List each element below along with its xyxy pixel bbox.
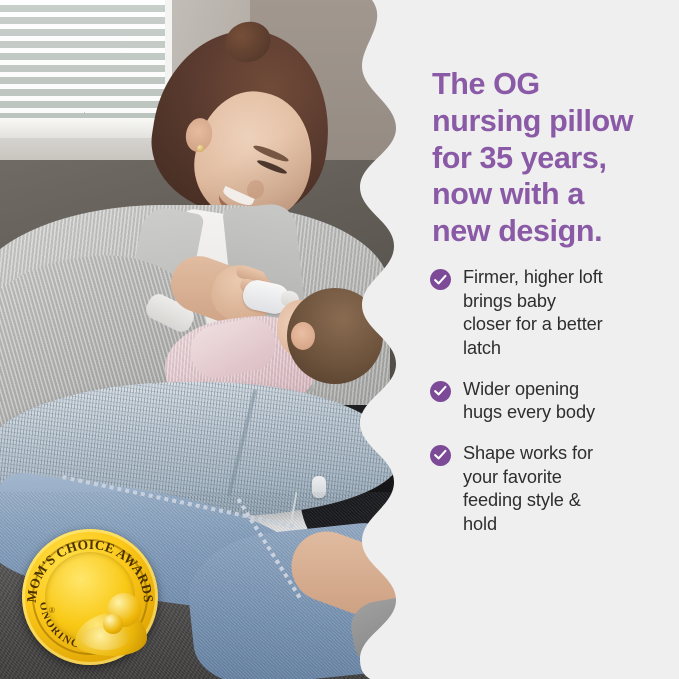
feature-bullet-text: Firmer, higher loft brings baby closer f… [463,266,603,361]
bullet-line: Shape works for [463,442,593,466]
copy-panel: The OG nursing pillow for 35 years, now … [400,0,679,679]
bullet-line: feeding style & [463,489,593,513]
feature-bullet-2: Wider opening hugs every body [430,378,670,425]
badge-child-figure-head [103,614,123,634]
bullet-line: closer for a better [463,313,603,337]
product-ad-card: MOM'S CHOICE AWARDS HONORING EXCELLENCE … [0,0,679,679]
bullet-line: hugs every body [463,401,595,425]
headline: The OG nursing pillow for 35 years, now … [432,66,677,249]
bullet-line: Firmer, higher loft [463,266,603,290]
badge-inner-disc [45,552,135,642]
check-circle-icon [430,445,451,466]
headline-line: The OG [432,66,677,103]
feature-bullet-text: Wider opening hugs every body [463,378,595,425]
bullet-line: brings baby [463,290,603,314]
moms-choice-awards-badge: MOM'S CHOICE AWARDS HONORING EXCELLENCE … [22,529,158,665]
bullet-line: your favorite [463,466,593,490]
headline-line: nursing pillow [432,103,677,140]
check-circle-icon [430,381,451,402]
bullet-line: latch [463,337,603,361]
feature-bullet-text: Shape works for your favorite feeding st… [463,442,593,537]
badge-registered-mark: ® [49,606,55,615]
bullet-line: Wider opening [463,378,595,402]
headline-line: new design. [432,213,677,250]
feature-bullet-1: Firmer, higher loft brings baby closer f… [430,266,670,361]
bullet-line: hold [463,513,593,537]
feature-bullet-3: Shape works for your favorite feeding st… [430,442,670,537]
headline-line: for 35 years, [432,140,677,177]
feature-bullet-list: Firmer, higher loft brings baby closer f… [430,266,670,554]
check-circle-icon [430,269,451,290]
headline-line: now with a [432,176,677,213]
